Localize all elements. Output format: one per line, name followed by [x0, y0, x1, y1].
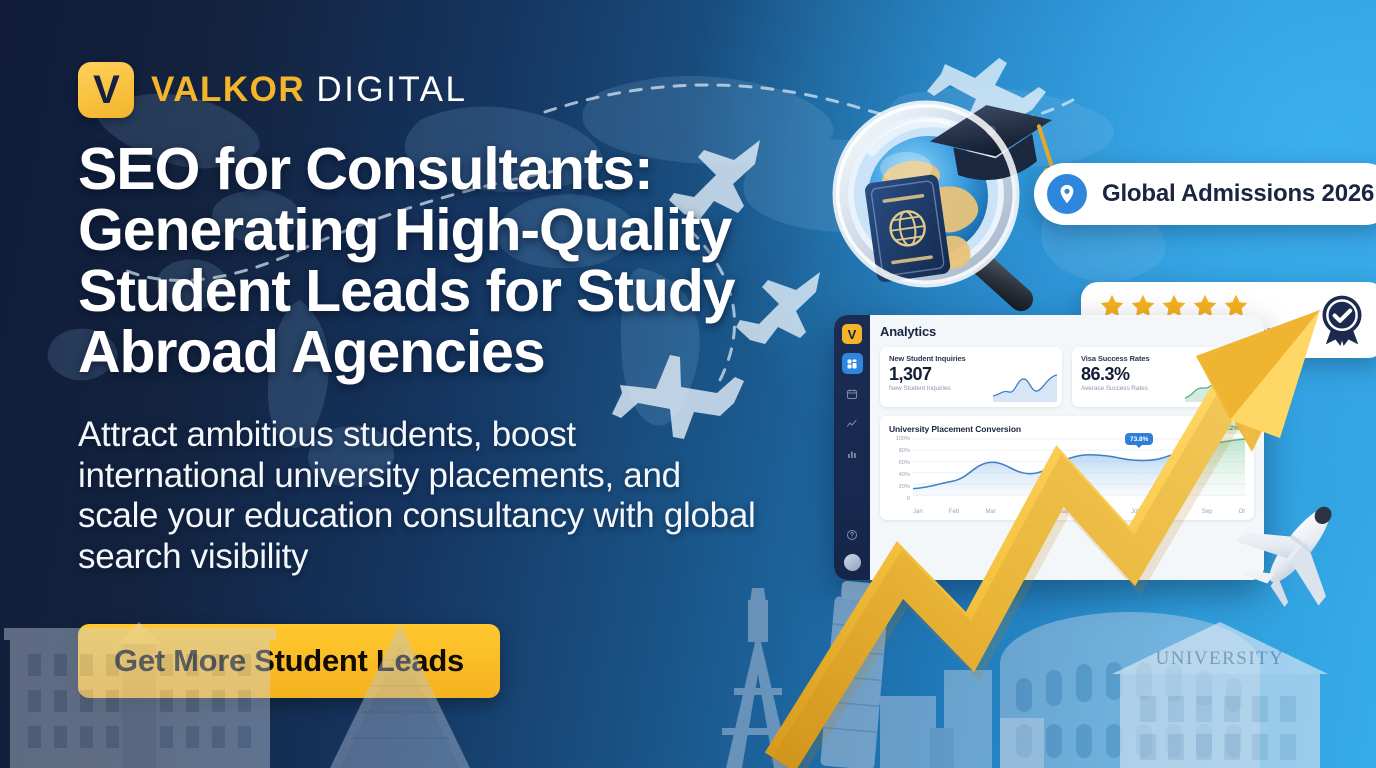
kpi-card-visa-success-rates[interactable]: Visa Success Rates 86.3% Averace Success…: [1072, 347, 1254, 407]
modern-tower: [330, 624, 470, 768]
logo-mark: V: [78, 62, 134, 118]
sidebar-user-avatar[interactable]: [844, 554, 861, 571]
chart-tooltip: 73.8%: [1125, 433, 1153, 445]
logo-name-primary: VALKOR: [151, 70, 305, 109]
leaning-tower-of-pisa: [820, 580, 890, 768]
dashboard-sidebar[interactable]: V: [834, 315, 870, 580]
x-tick: May: [1058, 509, 1069, 515]
sidebar-logo: V: [842, 324, 862, 344]
x-tick: Jol: [1131, 509, 1139, 515]
kpi-sparkline: [1185, 372, 1249, 402]
kpi-title: New Student Inquiries: [889, 354, 1053, 363]
placement-conversion-chart-card[interactable]: University Placement Conversion +22% 100…: [880, 416, 1254, 520]
y-tick: 100%: [896, 436, 910, 442]
analytics-bars-icon: [846, 448, 858, 460]
x-tick: Mar: [985, 509, 995, 515]
university-sign: UNIVERSITY: [1156, 648, 1285, 669]
x-tick: Sep: [1202, 509, 1213, 515]
calendar-icon: [846, 388, 858, 400]
chart-active-point: [1177, 449, 1184, 455]
award-ribbon-check-icon: [1316, 294, 1368, 346]
x-tick: Jan: [913, 509, 923, 515]
landmarks-skyline: UNIVERSITY: [0, 578, 1376, 768]
x-tick: Aug: [1165, 509, 1176, 515]
logo-name-secondary: DIGITAL: [316, 70, 467, 109]
location-pin-icon: [1047, 174, 1087, 214]
x-tick: Feb: [949, 509, 959, 515]
chart-x-axis: Jan Feb Mar Apr May Jun Jol Aug Sep Ot: [913, 509, 1245, 515]
kpi-row: New Student Inquiries 1,307 New Student …: [880, 347, 1254, 407]
brand-logo[interactable]: V VALKOR DIGITAL: [78, 62, 467, 118]
kpi-title: Visa Success Rates: [1081, 354, 1245, 363]
eiffel-tower: [722, 588, 794, 768]
sidebar-item-dashboard[interactable]: [842, 353, 863, 374]
sidebar-item-calendar[interactable]: [842, 383, 863, 404]
logo-wordmark: VALKOR DIGITAL: [151, 70, 467, 110]
sidebar-item-help[interactable]: [842, 524, 863, 545]
global-admissions-label: Global Admissions 2026: [1102, 180, 1374, 208]
hero-subheadline: Attract ambitious students, boost intern…: [78, 415, 758, 577]
y-tick: 80%: [899, 448, 910, 454]
x-tick: Jun: [1095, 509, 1105, 515]
y-tick: 60%: [899, 460, 910, 466]
y-tick: 0: [907, 496, 910, 502]
chart-plot-area: 100% 80% 60% 40% 20% 0: [889, 437, 1245, 515]
sidebar-item-trend[interactable]: [842, 413, 863, 434]
chart-badge: +22%: [1216, 423, 1245, 434]
chart-svg: [913, 437, 1245, 499]
sidebar-item-analytics[interactable]: [842, 443, 863, 464]
dashboard-icon: [846, 358, 858, 370]
y-tick: 40%: [899, 472, 910, 478]
help-circle-icon: [846, 529, 858, 541]
dashboard-title: Analytics: [880, 324, 1254, 339]
kpi-card-new-student-inquiries[interactable]: New Student Inquiries 1,307 New Student …: [880, 347, 1062, 407]
magnifier-illustration: [828, 96, 1068, 336]
chart-title: University Placement Conversion: [889, 424, 1245, 434]
analytics-dashboard[interactable]: V Analytics New Student Inq: [834, 315, 1264, 580]
chart-y-axis: 100% 80% 60% 40% 20% 0: [889, 437, 911, 499]
trend-icon: [846, 418, 858, 430]
x-tick: Ot: [1239, 509, 1245, 515]
dashboard-main: Analytics New Student Inquiries 1,307 Ne…: [870, 315, 1264, 580]
banner-canvas: V VALKOR DIGITAL SEO for Consultants: Ge…: [0, 0, 1376, 768]
logo-mark-letter: V: [93, 70, 119, 110]
x-tick: Apr: [1022, 509, 1031, 515]
y-tick: 20%: [899, 484, 910, 490]
neoclassical-building: [4, 622, 276, 768]
kpi-sparkline: [993, 372, 1057, 402]
global-admissions-badge[interactable]: Global Admissions 2026: [1034, 163, 1376, 225]
hero-headline: SEO for Consultants: Generating High-Qua…: [78, 139, 818, 383]
